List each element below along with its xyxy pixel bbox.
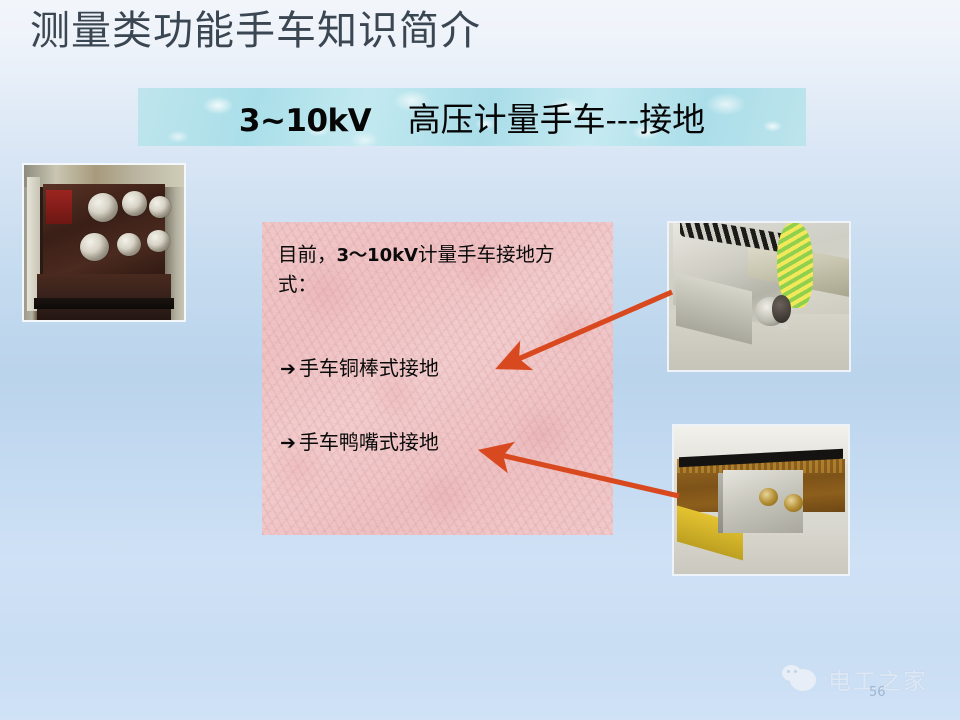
bolt-icon [784, 494, 803, 512]
bracket-image-body [669, 223, 849, 370]
subtitle-banner-text: 3~10kV 高压计量手车---接地 [239, 93, 705, 141]
photo-duckbill-grounding [672, 424, 850, 576]
cabinet-red-component [46, 190, 72, 224]
bullet-copper-rod-label: 手车铜棒式接地 [299, 354, 439, 382]
banner-main-label: 高压计量手车---接地 [408, 100, 705, 139]
insulator-knob [122, 191, 148, 216]
wechat-eye-dot [787, 670, 790, 673]
arrow-bullet-icon: ➔ [280, 430, 296, 457]
footer-logo: 电工之家 [782, 662, 928, 696]
copper-rod-stud-cap [772, 295, 792, 323]
insulator-knob [80, 233, 109, 261]
pink-text-panel: 目前，3～10kV计量手车接地方 式： ➔ 手车铜棒式接地 ➔ 手车鸭嘴式接地 [262, 222, 613, 535]
wechat-bubble-small [782, 665, 801, 681]
slide-canvas: 测量类功能手车知识简介 3~10kV 高压计量手车---接地 目前，3～10kV… [0, 0, 960, 720]
panel-intro-line2: 式： [278, 270, 599, 300]
arrow-bullet-icon: ➔ [280, 356, 296, 383]
cabinet-bottom-rail [34, 298, 175, 309]
photo-copper-rod-grounding [667, 221, 851, 372]
switchgear-image-body [24, 165, 184, 320]
banner-voltage-label: 3~10kV [239, 103, 371, 139]
cabinet-base [37, 274, 171, 321]
ground-image-body [674, 426, 848, 574]
subtitle-banner: 3~10kV 高压计量手车---接地 [138, 88, 806, 146]
panel-intro-voltage: 3～10kV [337, 245, 418, 266]
panel-intro-line: 目前，3～10kV计量手车接地方 [278, 240, 599, 270]
page-title: 测量类功能手车知识简介 [30, 8, 481, 54]
insulator-knob [147, 230, 169, 252]
insulator-knob [117, 233, 141, 256]
wechat-eye-dot [794, 670, 797, 673]
bullet-duckbill: ➔ 手车鸭嘴式接地 [280, 428, 439, 457]
photo-switchgear-cabinet [22, 163, 186, 322]
insulator-knob [149, 196, 171, 218]
panel-intro-tail: 计量手车接地方 [418, 243, 555, 266]
page-number: 56 [869, 685, 886, 700]
panel-intro-prefix: 目前， [278, 243, 337, 266]
bullet-copper-rod: ➔ 手车铜棒式接地 [280, 354, 439, 383]
wechat-icon [782, 665, 822, 693]
bullet-duckbill-label: 手车鸭嘴式接地 [299, 428, 439, 456]
